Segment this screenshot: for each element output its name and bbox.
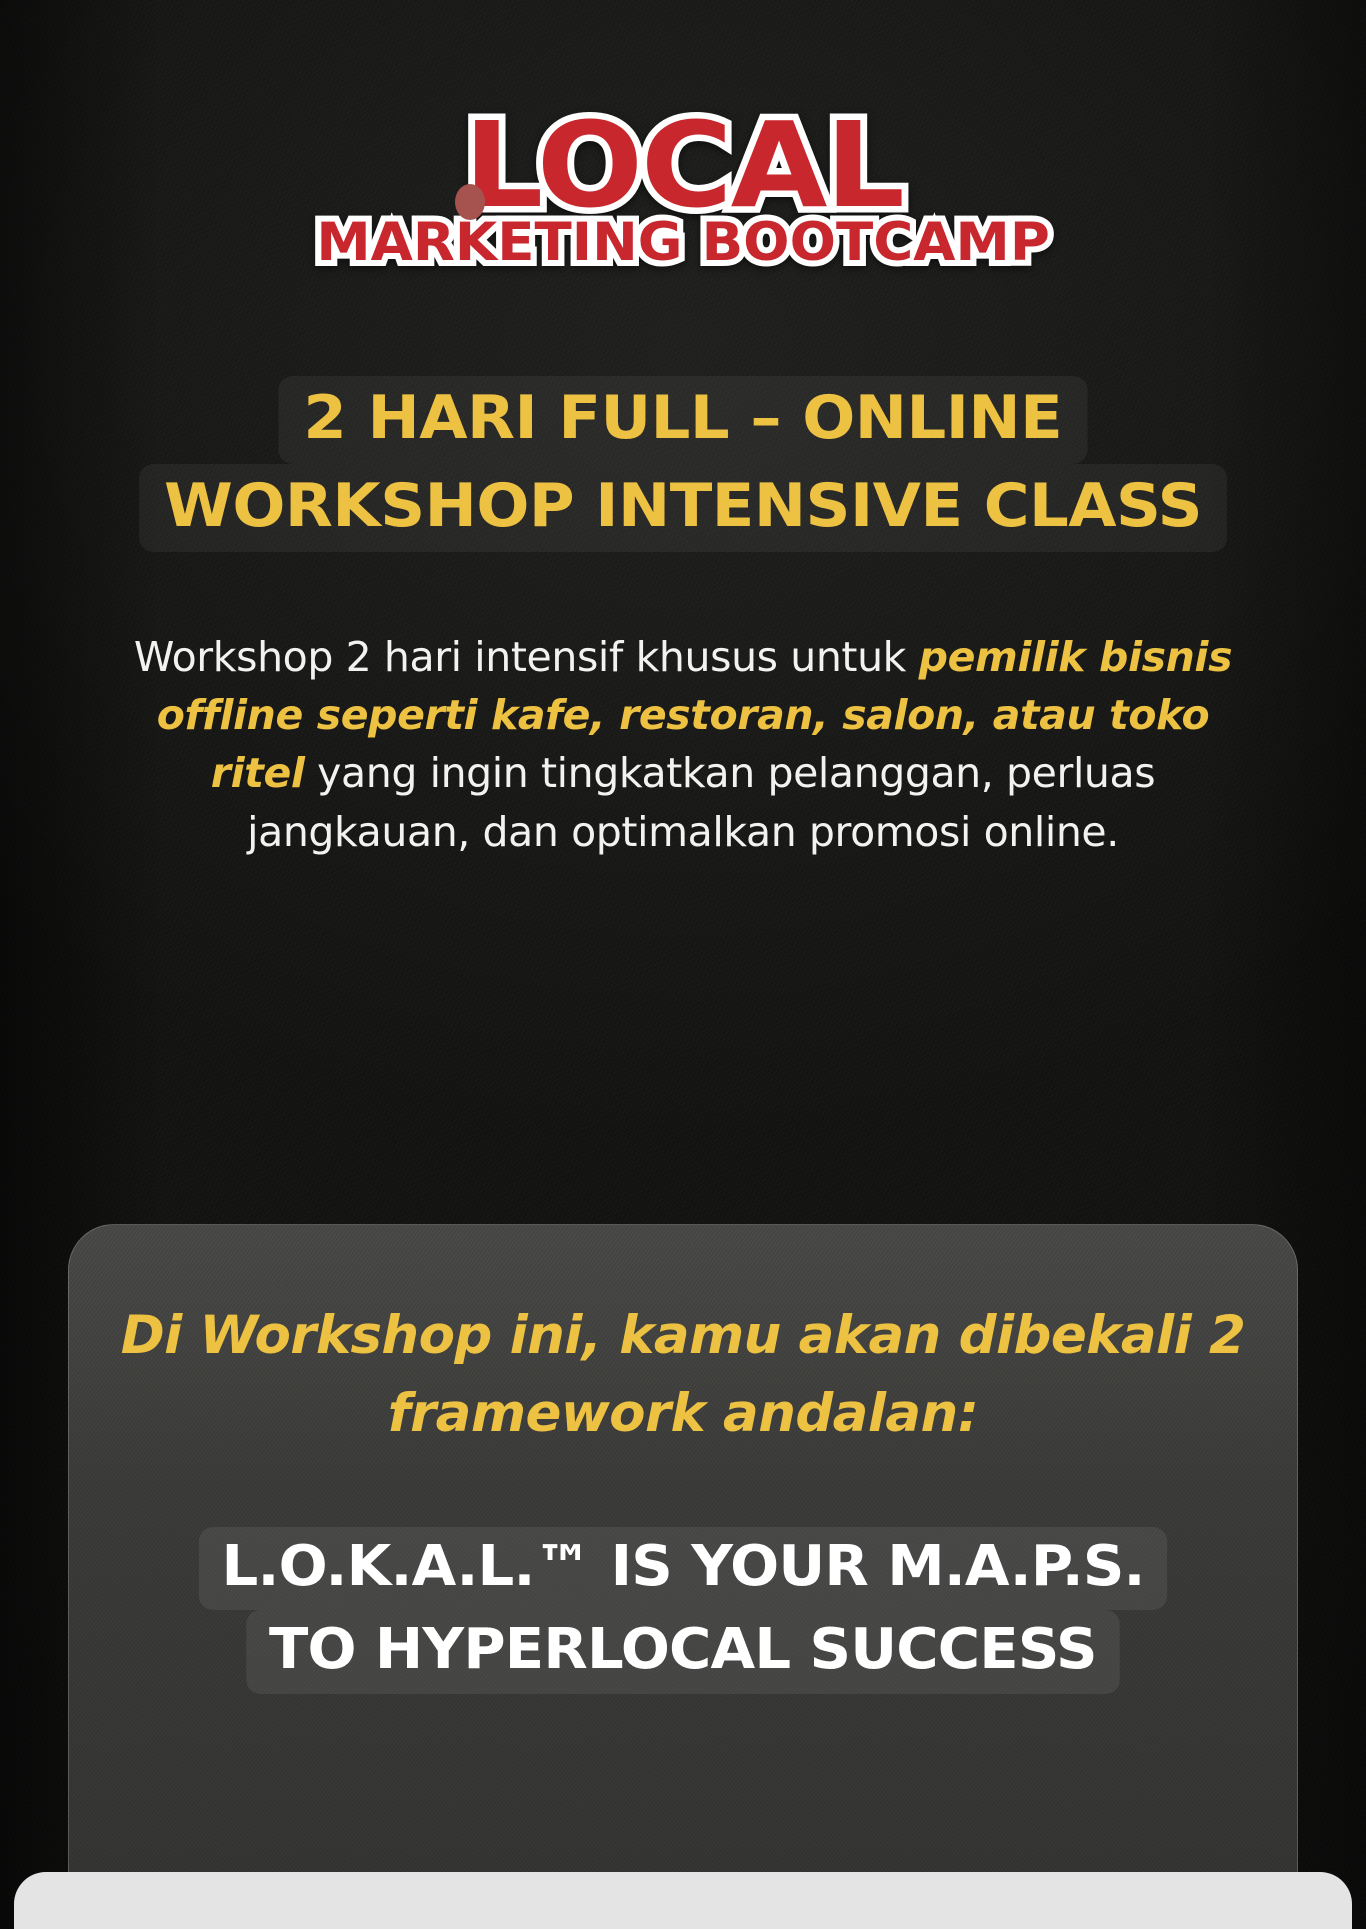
logo-wordmark: LOCAL [463,106,902,224]
card-heading: Di Workshop ini, kamu akan dibekali 2 fr… [109,1297,1257,1454]
logo-wordmark-row: LOCAL [0,106,1366,224]
framework-line-1: L.O.K.A.L.™ IS YOUR M.A.P.S. [199,1527,1167,1610]
framework-line-2-row: TO HYPERLOCAL SUCCESS [99,1610,1267,1693]
framework-line-2: TO HYPERLOCAL SUCCESS [246,1610,1119,1693]
headline-line-2: WORKSHOP INTENSIVE CLASS [139,464,1227,552]
headline-line-1: 2 HARI FULL – ONLINE [279,376,1088,464]
page-title: 2 HARI FULL – ONLINE WORKSHOP INTENSIVE … [0,376,1366,552]
lead-text-part-1: Workshop 2 hari intensif khusus untuk [134,633,919,681]
logo-subtitle: MARKETING BOOTCAMP [316,216,1050,269]
logo-subtitle-row: MARKETING BOOTCAMP [327,216,1039,269]
framework-line-1-row: L.O.K.A.L.™ IS YOUR M.A.P.S. [99,1527,1267,1610]
lead-text-part-2: yang ingin tingkatkan pelanggan, perluas… [247,749,1155,855]
framework-title: L.O.K.A.L.™ IS YOUR M.A.P.S. TO HYPERLOC… [99,1527,1267,1694]
framework-card: Di Workshop ini, kamu akan dibekali 2 fr… [68,1224,1298,1929]
headline-line-2-row: WORKSHOP INTENSIVE CLASS [0,464,1366,552]
poster-page: LOCAL MARKETING BOOTCAMP 2 HARI FULL – O… [0,0,1366,1929]
lead-paragraph: Workshop 2 hari intensif khusus untuk pe… [103,628,1263,861]
brand-logo: LOCAL MARKETING BOOTCAMP [0,106,1366,269]
headline-line-1-row: 2 HARI FULL – ONLINE [0,376,1366,464]
bottom-sheet [14,1872,1352,1929]
logo-dot-icon [455,184,485,220]
